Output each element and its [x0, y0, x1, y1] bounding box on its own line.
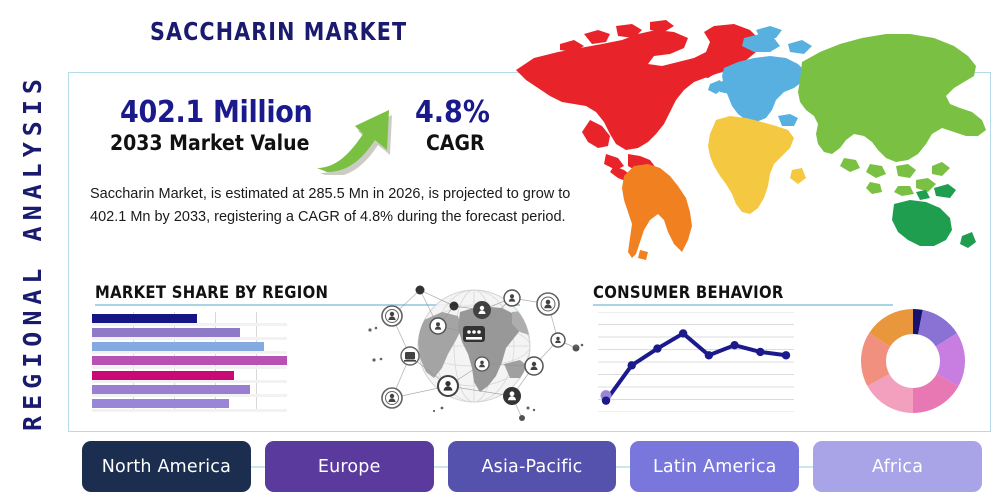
cagr-number: 4.8%: [415, 95, 490, 130]
cagr-label: CAGR: [426, 131, 485, 155]
bar-chart-bar: [92, 342, 264, 351]
bar-chart-bar: [92, 356, 287, 365]
region-tab-europe[interactable]: Europe: [265, 441, 434, 492]
line-chart-point: [730, 341, 738, 349]
region-tabs: North AmericaEuropeAsia-PacificLatin Ame…: [82, 441, 982, 492]
market-share-bar-chart: [92, 312, 287, 412]
region-tab-asia-pacific[interactable]: Asia-Pacific: [448, 441, 617, 492]
line-chart-point: [628, 361, 636, 369]
rule-consumer: [593, 304, 893, 306]
region-tab-latin-america[interactable]: Latin America: [630, 441, 799, 492]
region-donut-chart: [858, 306, 968, 416]
line-chart-point: [653, 344, 661, 352]
bar-row-separator: [92, 409, 287, 412]
region-tab-north-america[interactable]: North America: [82, 441, 251, 492]
network-globe-icon: [362, 268, 587, 423]
line-chart-point: [705, 351, 713, 359]
heading-market-share-by-region: MARKET SHARE BY REGION: [95, 283, 328, 302]
bar-row-separator: [92, 394, 287, 397]
bar-row-separator: [92, 337, 287, 340]
tab-connector: [799, 466, 813, 468]
market-value-label: 2033 Market Value: [110, 131, 309, 155]
tab-connector: [434, 466, 448, 468]
bar-chart-bar: [92, 399, 229, 408]
side-label-regional-analysis: REGIONAL ANALYSIS: [12, 32, 52, 472]
market-value-number: 402.1 Million: [120, 95, 312, 130]
bar-chart-bar: [92, 371, 234, 380]
consumer-behavior-line-chart: [598, 312, 794, 412]
bar-row-separator: [92, 380, 287, 383]
line-chart-point: [602, 396, 610, 404]
line-chart-point: [679, 329, 687, 337]
line-chart-point: [756, 348, 764, 356]
key-stats-row: 402.1 Million 2033 Market Value 4.8% CAG…: [110, 95, 510, 170]
tab-connector: [251, 466, 265, 468]
heading-consumer-behavior: CONSUMER BEHAVIOR: [593, 283, 784, 302]
tab-connector: [616, 466, 630, 468]
bar-row-separator: [92, 366, 287, 369]
page-title: SACCHARIN MARKET: [150, 17, 407, 46]
bar-chart-bar: [92, 328, 240, 337]
bar-row-separator: [92, 351, 287, 354]
infographic-canvas: REGIONAL ANALYSIS SACCHARIN MARKET: [0, 0, 1000, 500]
region-tab-africa[interactable]: Africa: [813, 441, 982, 492]
bar-chart-bar: [92, 314, 197, 323]
line-chart-point: [782, 351, 790, 359]
bar-chart-bar: [92, 385, 250, 394]
description-paragraph: Saccharin Market, is estimated at 285.5 …: [90, 183, 590, 229]
bar-row-separator: [92, 323, 287, 326]
growth-arrow-icon: [315, 90, 415, 175]
